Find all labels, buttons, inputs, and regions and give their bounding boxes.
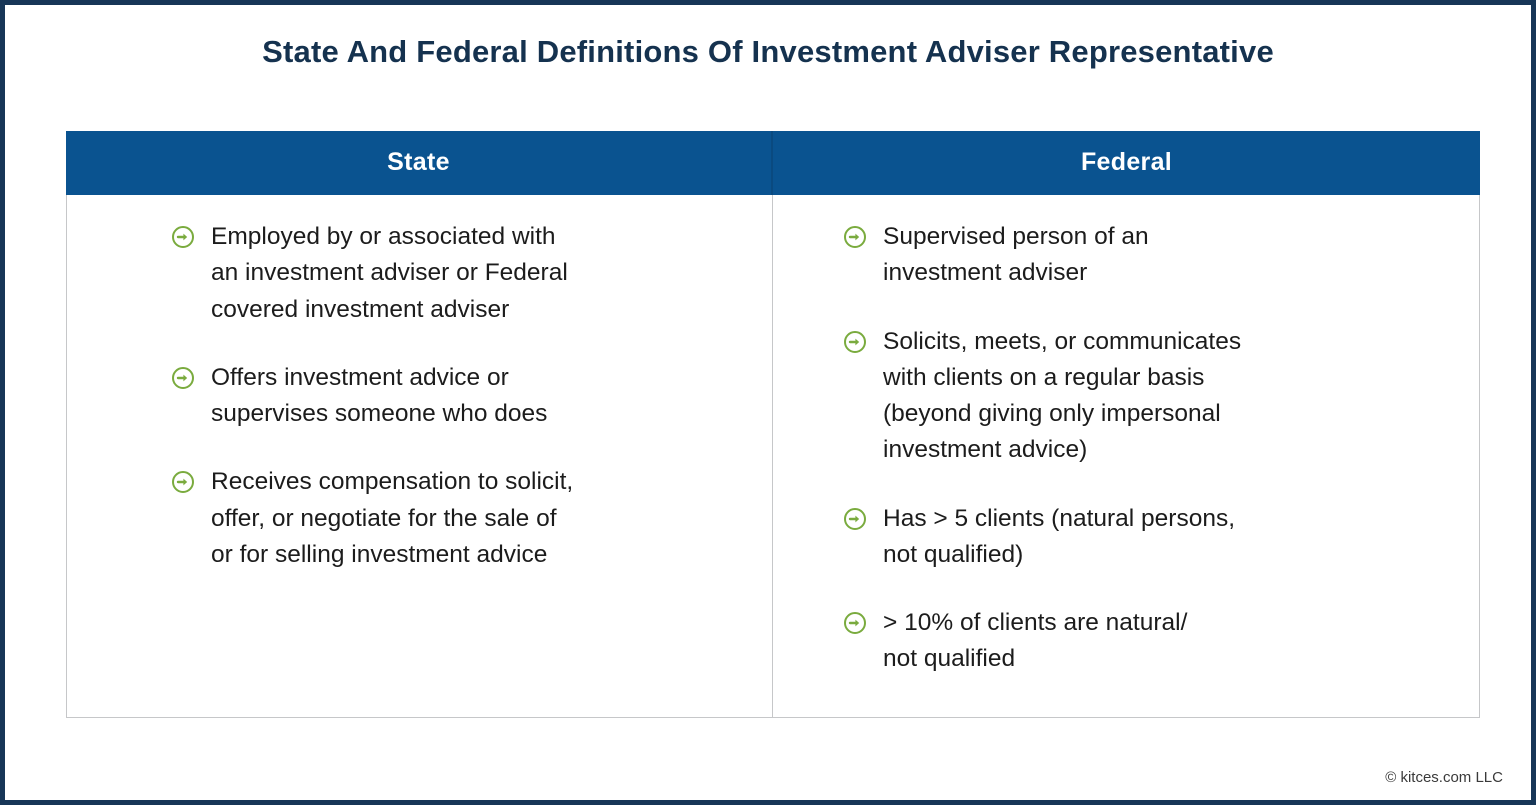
list-item-text: Solicits, meets, or communicates with cl…	[883, 324, 1241, 469]
column-header-federal: Federal	[773, 131, 1480, 195]
table-header-row: State Federal	[66, 131, 1480, 195]
definitions-table: State Federal Employed by or associ	[66, 131, 1480, 718]
infographic-frame: State And Federal Definitions Of Investm…	[0, 0, 1536, 805]
list-item-text: Receives compensation to solicit, offer,…	[211, 464, 573, 573]
list-item: Supervised person of an investment advis…	[843, 219, 1439, 292]
table-body: Employed by or associated with an invest…	[66, 195, 1480, 718]
column-header-state: State	[66, 131, 773, 195]
list-item-text: Employed by or associated with an invest…	[211, 219, 568, 328]
federal-bullet-list: Supervised person of an investment advis…	[843, 219, 1439, 678]
list-item: Employed by or associated with an invest…	[171, 219, 732, 328]
list-item-text: Has > 5 clients (natural persons, not qu…	[883, 501, 1235, 574]
copyright-credit: © kitces.com LLC	[1385, 769, 1503, 786]
list-item: > 10% of clients are natural/ not qualif…	[843, 605, 1439, 678]
list-item: Solicits, meets, or communicates with cl…	[843, 324, 1439, 469]
arrow-circle-right-icon	[171, 470, 195, 494]
page-title: State And Federal Definitions Of Investm…	[5, 5, 1531, 70]
arrow-circle-right-icon	[171, 366, 195, 390]
column-federal: Supervised person of an investment advis…	[773, 195, 1479, 717]
list-item: Offers investment advice or supervises s…	[171, 360, 732, 433]
arrow-circle-right-icon	[843, 330, 867, 354]
list-item-text: > 10% of clients are natural/ not qualif…	[883, 605, 1187, 678]
list-item: Receives compensation to solicit, offer,…	[171, 464, 732, 573]
arrow-circle-right-icon	[171, 225, 195, 249]
list-item-text: Offers investment advice or supervises s…	[211, 360, 547, 433]
arrow-circle-right-icon	[843, 507, 867, 531]
arrow-circle-right-icon	[843, 611, 867, 635]
list-item-text: Supervised person of an investment advis…	[883, 219, 1149, 292]
state-bullet-list: Employed by or associated with an invest…	[171, 219, 732, 573]
list-item: Has > 5 clients (natural persons, not qu…	[843, 501, 1439, 574]
arrow-circle-right-icon	[843, 225, 867, 249]
column-state: Employed by or associated with an invest…	[67, 195, 773, 717]
